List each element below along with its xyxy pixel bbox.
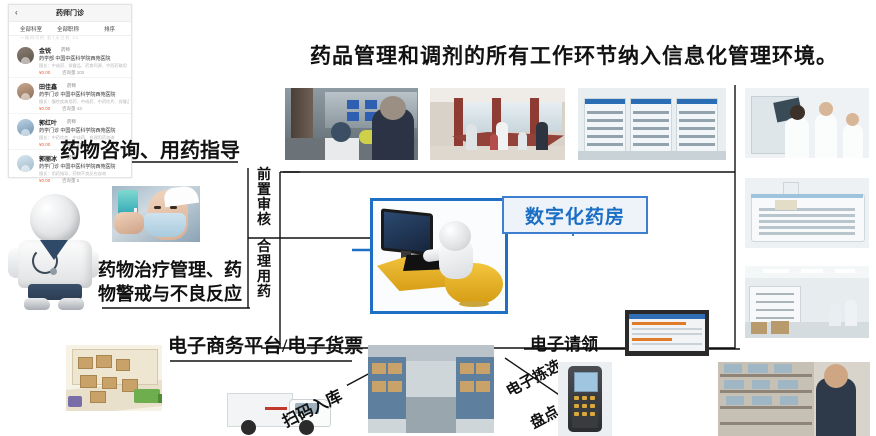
doctor-price: ¥0.00: [39, 142, 50, 147]
slide-canvas: 药品管理和调剂的所有工作环节纳入信息化管理环境。 ‹ 药师门诊 全部科室 全部职…: [0, 0, 876, 436]
doctor-price: ¥0.00: [39, 70, 50, 75]
page-title: 药品管理和调剂的所有工作环节纳入信息化管理环境。: [310, 40, 830, 70]
label-mtm-line1: 药物治疗管理、药: [98, 258, 256, 282]
3d-white-figure-at-computer: [370, 198, 508, 314]
filter-title[interactable]: 全部职称: [57, 25, 79, 33]
warehouse-racking-photo: [368, 345, 494, 433]
label-e-requisition: 电子请领: [530, 330, 598, 355]
doctor-role: 药师: [67, 119, 76, 125]
warehouse-logistics-illustration: [66, 345, 162, 411]
app-header: ‹ 药师门诊: [9, 5, 131, 22]
handheld-barcode-scanner-photo: [558, 362, 612, 436]
digital-pharmacy-label: 数字化药房: [525, 202, 625, 229]
filter-department[interactable]: 全部科室: [20, 25, 42, 33]
label-mtm-line2: 物警戒与不良反应: [98, 282, 256, 306]
doctor-role: 药师: [61, 47, 70, 53]
avatar: [17, 119, 34, 136]
automated-medicine-cabinets-photo: [578, 88, 726, 160]
lab-dispensing-staff-photo: [745, 88, 869, 158]
doctor-consult-count: 咨询量 102: [62, 70, 84, 76]
label-rational-use: 合理用药: [256, 240, 272, 300]
digital-pharmacy-badge: 数字化药房: [502, 196, 648, 234]
doctor-name: 郭红叶: [39, 118, 57, 127]
doctor-tags: 擅长：用药指导、药物不良反应咨询: [39, 171, 129, 177]
doctor-role: 药师: [67, 83, 76, 89]
doctor-name: 郭丽冰: [39, 154, 57, 163]
doctor-dept: 药学门诊 中国中医科学院西苑医院: [39, 127, 115, 134]
avatar: [17, 83, 34, 100]
label-pre-review: 前置审核: [256, 168, 272, 228]
list-item[interactable]: 金锐 药师 药学部 中国中医科学院西苑医院 擅长：中成药、保健品、药食同源、中西…: [9, 41, 131, 78]
doctor-consult-count: 咨询量 5: [62, 178, 79, 184]
label-ecommerce-platform: 电子商务平台/电子货票: [168, 331, 363, 358]
doctor-name: 田佳鑫: [39, 82, 57, 91]
automatic-dispensing-machine-photo: [745, 178, 869, 248]
pharmacy-counter-photo: [285, 88, 418, 160]
filter-sort[interactable]: 排序: [104, 25, 115, 33]
doctor-tags: 擅长：中成药、保健品、药食同源、中西药联用: [39, 63, 129, 69]
doctor-dept: 药学部 中国中医科学院西苑医院: [39, 55, 110, 62]
nurse-with-mask-photo: [112, 186, 200, 242]
pharmacy-storage-aisle-photo: [745, 266, 869, 338]
doctor-dept: 药学门诊 中国中医科学院西苑医院: [39, 163, 115, 170]
label-e-picking: 电子拣选: [502, 354, 565, 401]
label-drug-consultation: 药物咨询、用药指导: [60, 134, 240, 163]
shelf-picking-staff-photo: [718, 362, 870, 436]
filter-bar: 全部科室 全部职称 排序: [9, 22, 131, 36]
doctor-price: ¥0.00: [39, 178, 50, 183]
3d-white-doctor-figure: [6, 188, 102, 314]
list-item[interactable]: 田佳鑫 药师 药学门诊 中国中医科学院西苑医院 擅长：慢性疾病用药、中成药、中药…: [9, 77, 131, 114]
avatar: [17, 155, 34, 172]
doctor-dept: 药学门诊 中国中医科学院西苑医院: [39, 91, 115, 98]
doctor-consult-count: 咨询量 43: [62, 106, 82, 112]
avatar: [17, 47, 34, 64]
pharmacy-terminal-screen-photo: [625, 310, 709, 356]
hospital-dispensing-windows-photo: [430, 88, 565, 160]
doctor-price: ¥0.00: [39, 106, 50, 111]
doctor-name: 金锐: [39, 46, 51, 55]
doctor-tags: 擅长：慢性疾病用药、中成药、中药饮片、保健品: [39, 99, 129, 105]
app-title: 药师门诊: [9, 8, 131, 18]
